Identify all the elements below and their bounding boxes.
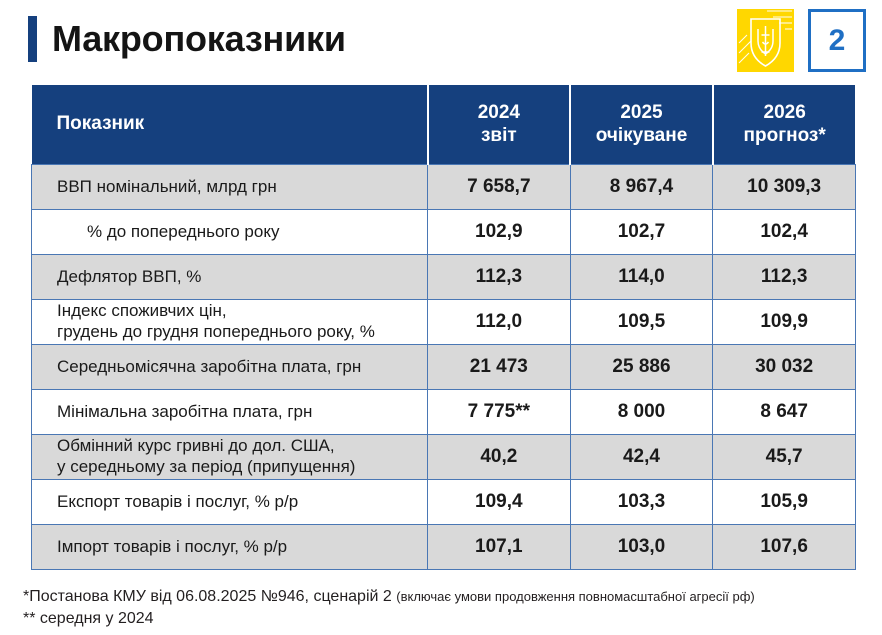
row-value-2024: 7 658,7 bbox=[428, 165, 571, 210]
column-header-2026: 2026 прогноз* bbox=[713, 85, 856, 165]
row-value-2025: 102,7 bbox=[570, 210, 713, 255]
column-header-2026-year: 2026 bbox=[764, 102, 806, 123]
row-label-line1: Мінімальна заробітна плата, грн bbox=[57, 402, 312, 421]
table-row: ВВП номінальний, млрд грн 7 658,7 8 967,… bbox=[32, 165, 856, 210]
row-value-2026: 10 309,3 bbox=[713, 165, 856, 210]
row-label: Середньомісячна заробітна плата, грн bbox=[32, 345, 428, 390]
slide-root: Макропоказники bbox=[0, 0, 882, 635]
row-label: Індекс споживчих цін, грудень до грудня … bbox=[32, 300, 428, 345]
footnote-line-2: ** середня у 2024 bbox=[23, 608, 873, 630]
row-label: Дефлятор ВВП, % bbox=[32, 255, 428, 300]
ukraine-trident-emblem-icon bbox=[737, 9, 794, 72]
table-row: Мінімальна заробітна плата, грн 7 775** … bbox=[32, 390, 856, 435]
row-value-2024: 40,2 bbox=[428, 435, 571, 480]
row-value-2026: 45,7 bbox=[713, 435, 856, 480]
row-label: % до попереднього року bbox=[32, 210, 428, 255]
row-value-2024: 112,0 bbox=[428, 300, 571, 345]
footnote-1-detail: (включає умови продовження повномасштабн… bbox=[396, 589, 755, 604]
footnotes-block: *Постанова КМУ від 06.08.2025 №946, сцен… bbox=[23, 586, 873, 629]
row-value-2026: 107,6 bbox=[713, 525, 856, 570]
row-value-2025: 103,0 bbox=[570, 525, 713, 570]
row-label-line1: Індекс споживчих цін, bbox=[57, 301, 227, 320]
row-label: Мінімальна заробітна плата, грн bbox=[32, 390, 428, 435]
row-value-2025: 42,4 bbox=[570, 435, 713, 480]
row-value-2026: 112,3 bbox=[713, 255, 856, 300]
row-label-line1: % до попереднього року bbox=[87, 222, 279, 241]
table-row: Середньомісячна заробітна плата, грн 21 … bbox=[32, 345, 856, 390]
table-row: % до попереднього року 102,9 102,7 102,4 bbox=[32, 210, 856, 255]
macro-indicators-table-wrap: Показник 2024 звіт 2025 очікуване 2026 п… bbox=[31, 85, 855, 570]
footnote-1-main: *Постанова КМУ від 06.08.2025 №946, сцен… bbox=[23, 588, 392, 605]
page-title: Макропоказники bbox=[52, 21, 346, 57]
page-number-box: 2 bbox=[808, 9, 866, 72]
row-value-2024: 107,1 bbox=[428, 525, 571, 570]
row-label: ВВП номінальний, млрд грн bbox=[32, 165, 428, 210]
row-value-2025: 25 886 bbox=[570, 345, 713, 390]
column-header-indicator: Показник bbox=[32, 85, 428, 165]
row-label-line1: Експорт товарів і послуг, % р/р bbox=[57, 492, 298, 511]
row-label-line1: ВВП номінальний, млрд грн bbox=[57, 177, 277, 196]
row-value-2024: 7 775** bbox=[428, 390, 571, 435]
row-label-line1: Імпорт товарів і послуг, % р/р bbox=[57, 537, 287, 556]
row-label-line1: Дефлятор ВВП, % bbox=[57, 267, 201, 286]
row-label-line2: грудень до грудня попереднього року, % bbox=[57, 322, 419, 343]
column-header-2024: 2024 звіт bbox=[428, 85, 571, 165]
row-label: Обмінний курс гривні до дол. США, у сере… bbox=[32, 435, 428, 480]
column-header-2024-year: 2024 bbox=[478, 102, 520, 123]
row-value-2024: 21 473 bbox=[428, 345, 571, 390]
table-row: Дефлятор ВВП, % 112,3 114,0 112,3 bbox=[32, 255, 856, 300]
slide-header: Макропоказники bbox=[0, 0, 882, 82]
row-value-2026: 109,9 bbox=[713, 300, 856, 345]
row-value-2026: 30 032 bbox=[713, 345, 856, 390]
column-header-2024-sub: звіт bbox=[481, 125, 517, 146]
row-value-2025: 8 000 bbox=[570, 390, 713, 435]
title-block: Макропоказники bbox=[28, 12, 346, 66]
table-body: ВВП номінальний, млрд грн 7 658,7 8 967,… bbox=[32, 165, 856, 570]
table-header: Показник 2024 звіт 2025 очікуване 2026 п… bbox=[32, 85, 856, 165]
footnote-line-1: *Постанова КМУ від 06.08.2025 №946, сцен… bbox=[23, 586, 873, 608]
row-label-line1: Середньомісячна заробітна плата, грн bbox=[57, 357, 361, 376]
row-label: Імпорт товарів і послуг, % р/р bbox=[32, 525, 428, 570]
row-value-2024: 109,4 bbox=[428, 480, 571, 525]
row-label: Експорт товарів і послуг, % р/р bbox=[32, 480, 428, 525]
row-value-2026: 102,4 bbox=[713, 210, 856, 255]
row-value-2026: 105,9 bbox=[713, 480, 856, 525]
row-value-2025: 8 967,4 bbox=[570, 165, 713, 210]
row-value-2025: 114,0 bbox=[570, 255, 713, 300]
page-number: 2 bbox=[829, 26, 846, 56]
row-value-2025: 103,3 bbox=[570, 480, 713, 525]
row-value-2025: 109,5 bbox=[570, 300, 713, 345]
row-label-line1: Обмінний курс гривні до дол. США, bbox=[57, 436, 335, 455]
table-row: Обмінний курс гривні до дол. США, у сере… bbox=[32, 435, 856, 480]
macro-indicators-table: Показник 2024 звіт 2025 очікуване 2026 п… bbox=[31, 85, 856, 570]
row-value-2026: 8 647 bbox=[713, 390, 856, 435]
table-header-row: Показник 2024 звіт 2025 очікуване 2026 п… bbox=[32, 85, 856, 165]
column-header-indicator-label: Показник bbox=[57, 113, 145, 134]
title-accent-bar bbox=[28, 16, 37, 62]
table-row: Імпорт товарів і послуг, % р/р 107,1 103… bbox=[32, 525, 856, 570]
row-label-line2: у середньому за період (припущення) bbox=[57, 457, 419, 478]
table-row: Індекс споживчих цін, грудень до грудня … bbox=[32, 300, 856, 345]
table-row: Експорт товарів і послуг, % р/р 109,4 10… bbox=[32, 480, 856, 525]
column-header-2025-year: 2025 bbox=[620, 102, 662, 123]
column-header-2026-sub: прогноз* bbox=[744, 125, 826, 146]
row-value-2024: 102,9 bbox=[428, 210, 571, 255]
row-value-2024: 112,3 bbox=[428, 255, 571, 300]
column-header-2025: 2025 очікуване bbox=[570, 85, 713, 165]
column-header-2025-sub: очікуване bbox=[596, 125, 688, 146]
